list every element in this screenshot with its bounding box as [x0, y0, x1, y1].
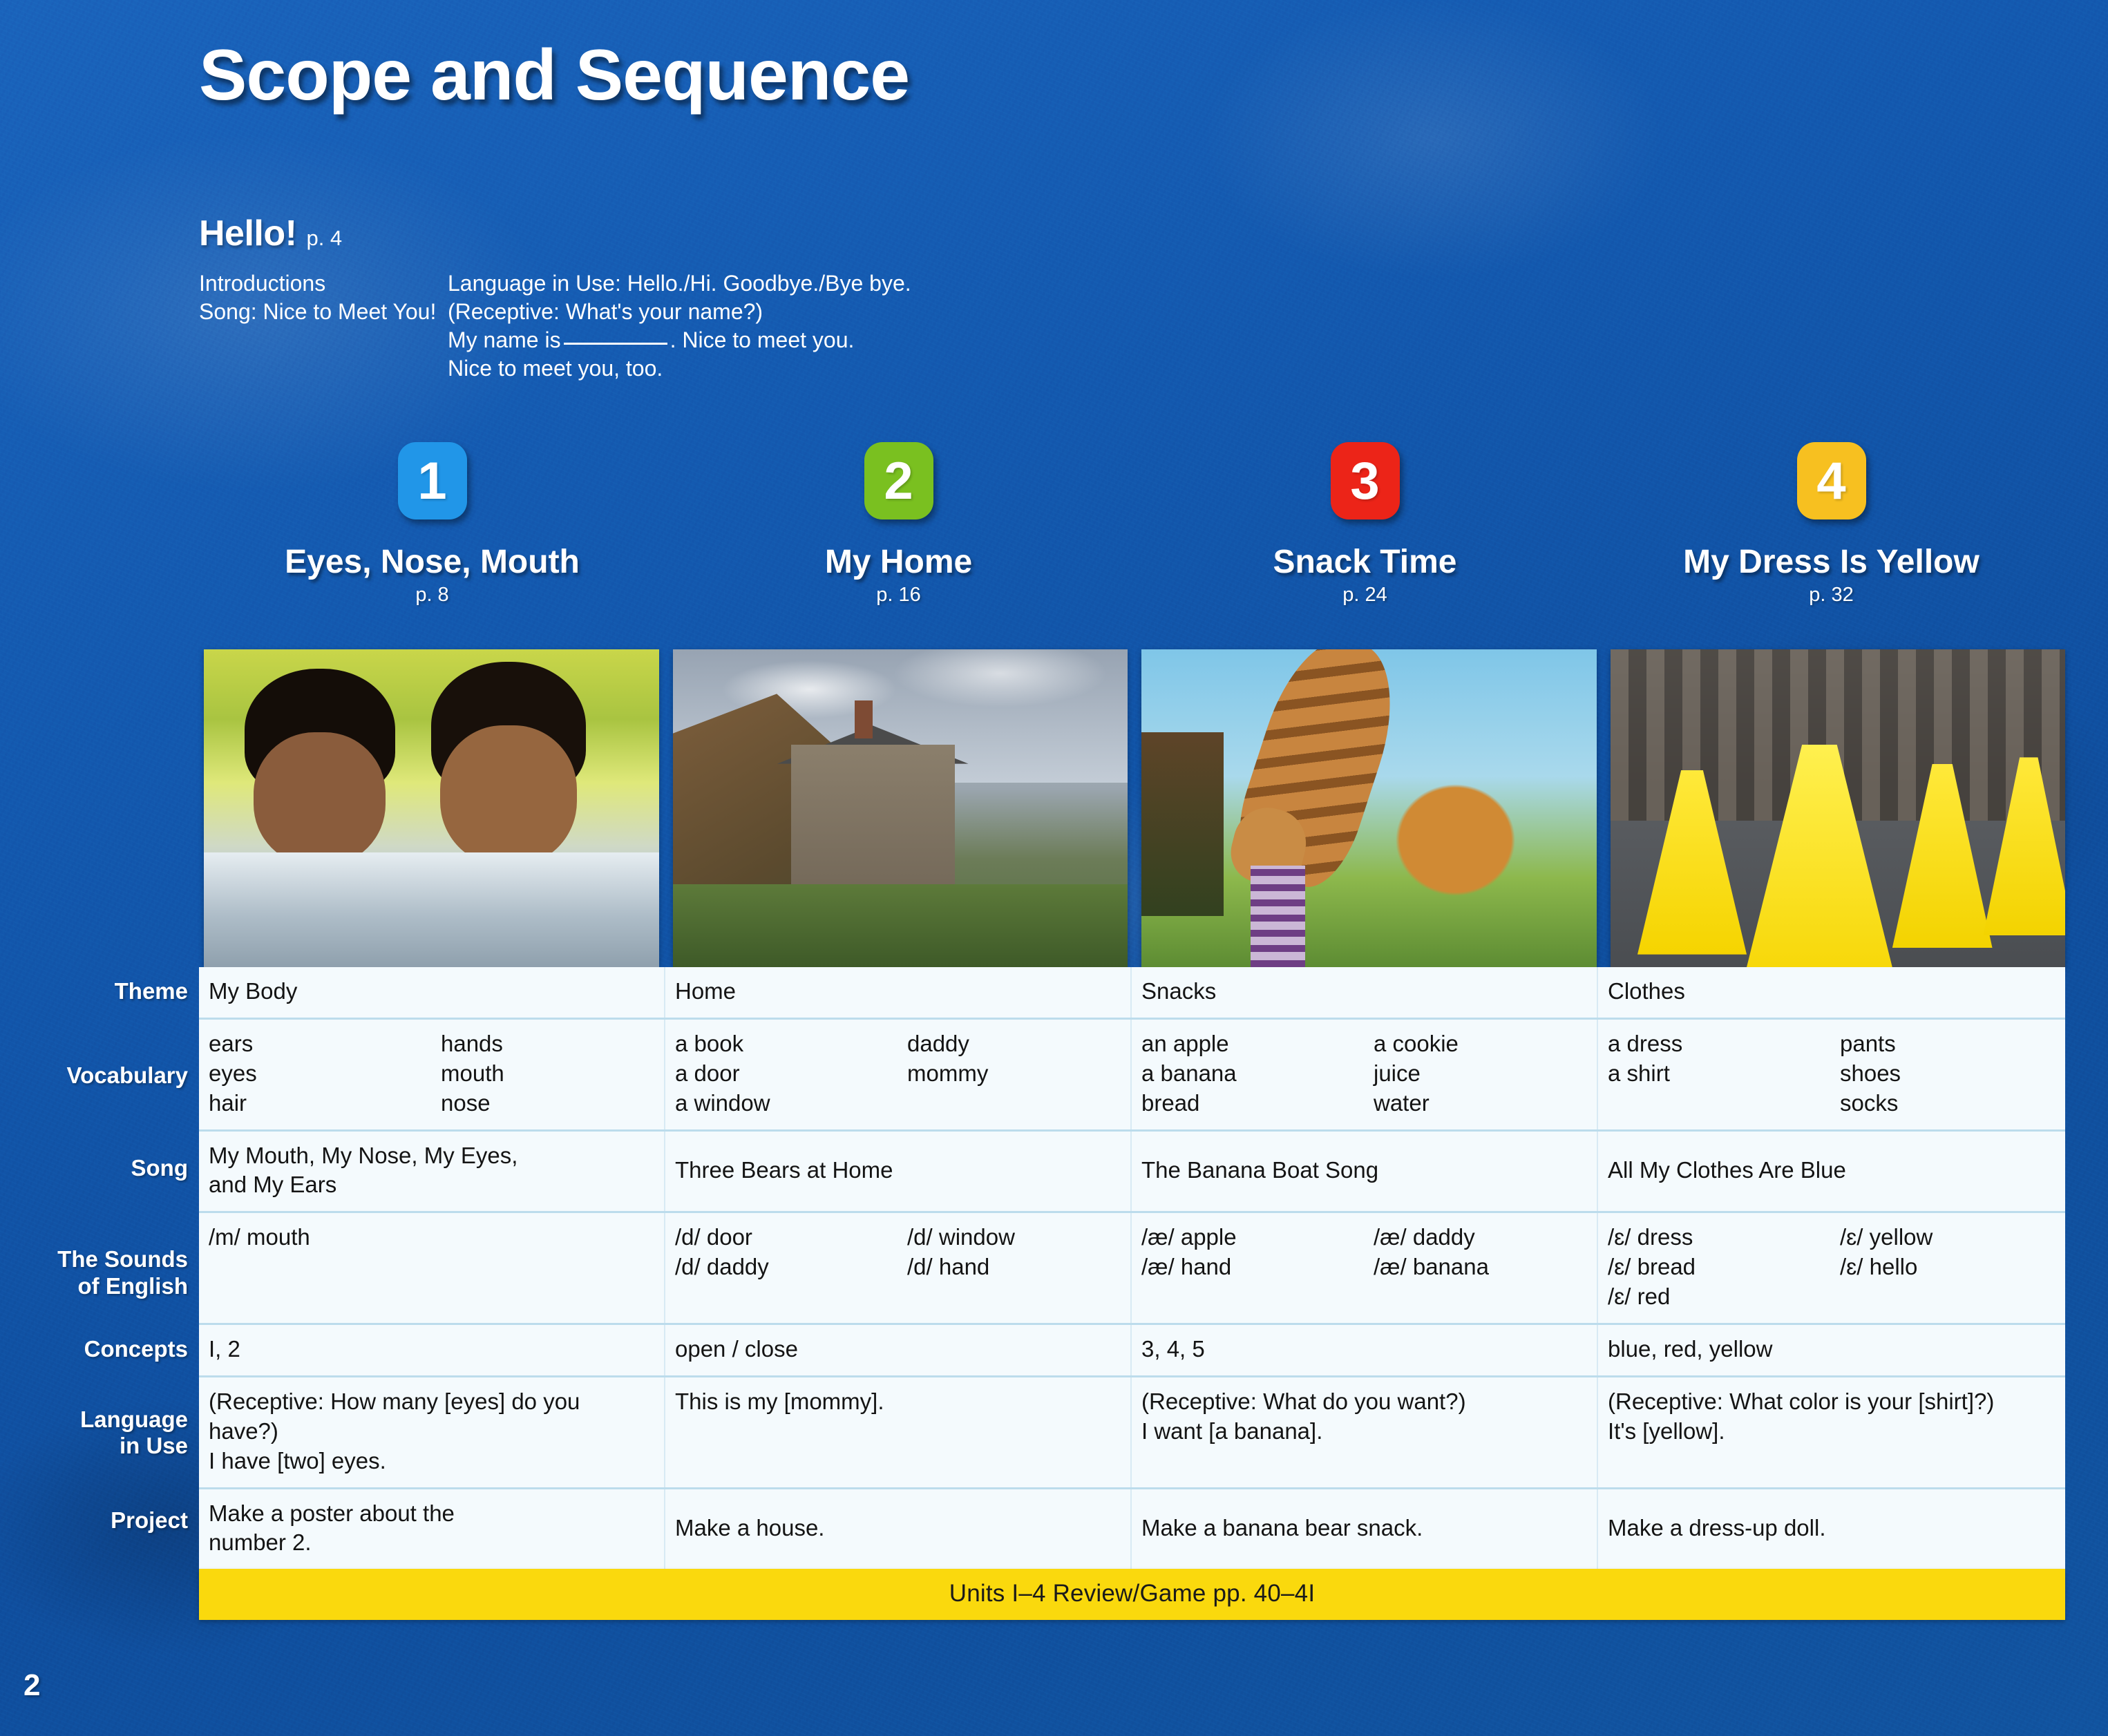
table-cell: Make a dress-up doll. — [1598, 1489, 2064, 1570]
table-cell: My Mouth, My Nose, My Eyes, and My Ears — [199, 1132, 665, 1212]
row-label-concepts: Concepts — [0, 1325, 199, 1377]
cell-text: a cookiejuicewater — [1374, 1029, 1588, 1118]
table-cell: This is my [mommy]. — [665, 1377, 1132, 1487]
table-row-concepts: Concepts I, 2 open / close 3, 4, 5 blue,… — [0, 1325, 2065, 1377]
table-row-vocabulary: Vocabulary earseyeshairhandsmouthnose a … — [0, 1020, 2065, 1132]
hello-my-name-prefix: My name is — [448, 327, 561, 352]
row-cells-theme: My Body Home Snacks Clothes — [199, 967, 2065, 1020]
hello-columns: Introductions Song: Nice to Meet You! La… — [199, 269, 911, 383]
cell-text: pantsshoessocks — [1840, 1029, 2056, 1118]
unit-title-4: My Dress Is Yellow — [1683, 543, 1979, 581]
hello-receptive: (Receptive: What's your name?) — [448, 298, 911, 326]
cell-text — [441, 977, 656, 1007]
table-cell: The Banana Boat Song — [1132, 1132, 1598, 1212]
review-spacer — [0, 1569, 199, 1620]
row-cells-project: Make a poster about the number 2. Make a… — [199, 1489, 2065, 1570]
row-label-project: Project — [0, 1489, 199, 1570]
cell-text: (Receptive: What color is your [shirt]?)… — [1608, 1387, 2056, 1476]
table-cell: /ɛ/ dress/ɛ/ bread/ɛ/ red/ɛ/ yellow/ɛ/ h… — [1598, 1213, 2064, 1323]
cell-text: My Mouth, My Nose, My Eyes, and My Ears — [209, 1141, 533, 1201]
table-row-language-in-use: Language in Use (Receptive: How many [ey… — [0, 1377, 2065, 1489]
page-number: 2 — [23, 1668, 40, 1703]
table-cell: an applea bananabreada cookiejuicewater — [1132, 1020, 1598, 1129]
table-cell: Snacks — [1132, 967, 1598, 1018]
table-cell: Three Bears at Home — [665, 1132, 1132, 1212]
unit-page-ref-3: p. 24 — [1342, 584, 1387, 607]
cell-text: Three Bears at Home — [675, 1156, 1122, 1185]
cell-text: /æ/ daddy/æ/ banana — [1374, 1223, 1588, 1312]
table-cell: /d/ door/d/ daddy/d/ window/d/ hand — [665, 1213, 1132, 1323]
row-cells-song: My Mouth, My Nose, My Eyes, and My Ears … — [199, 1132, 2065, 1214]
table-cell: a booka doora windowdaddymommy — [665, 1020, 1132, 1129]
cell-text: /æ/ apple/æ/ hand — [1141, 1223, 1374, 1312]
table-row-theme: Theme My Body Home Snacks Clothes — [0, 967, 2065, 1020]
cell-text: Make a house. — [675, 1514, 1122, 1543]
hello-section: Hello! p. 4 Introductions Song: Nice to … — [199, 213, 911, 383]
cell-text: Make a poster about the number 2. — [209, 1499, 513, 1558]
unit-page-ref-4: p. 32 — [1809, 584, 1854, 607]
table-cell: (Receptive: How many [eyes] do you have?… — [199, 1377, 665, 1487]
unit-header-3[interactable]: 3 Snack Time p. 24 — [1132, 442, 1598, 607]
table-cell: Make a poster about the number 2. — [199, 1489, 665, 1570]
unit-title-3: Snack Time — [1273, 543, 1457, 581]
cell-text: Make a dress-up doll. — [1608, 1514, 2056, 1543]
cell-text: All My Clothes Are Blue — [1608, 1156, 2056, 1185]
row-cells-vocabulary: earseyeshairhandsmouthnose a booka doora… — [199, 1020, 2065, 1132]
cell-text — [441, 1223, 656, 1312]
hello-my-name-suffix: . Nice to meet you. — [670, 327, 855, 352]
review-banner[interactable]: Units I–4 Review/Game pp. 40–4I — [199, 1569, 2065, 1620]
cell-text: earseyeshair — [209, 1029, 441, 1118]
row-label-sounds-of-english: The Sounds of English — [0, 1213, 199, 1325]
hello-my-name-is: My name is. Nice to meet you. — [448, 326, 911, 354]
cell-text: (Receptive: How many [eyes] do you have?… — [209, 1387, 656, 1476]
cell-text: 3, 4, 5 — [1141, 1335, 1374, 1364]
two-boys-photo — [204, 649, 659, 967]
stone-cottage-photo — [673, 649, 1128, 967]
unit-badge-2: 2 — [864, 442, 933, 519]
table-cell: a dressa shirtpantsshoessocks — [1598, 1020, 2064, 1129]
row-label-line: of English — [0, 1273, 188, 1299]
table-cell: /m/ mouth — [199, 1213, 665, 1323]
unit-page-ref-2: p. 16 — [876, 584, 921, 607]
cell-text: an applea bananabread — [1141, 1029, 1374, 1118]
hello-heading: Hello! p. 4 — [199, 213, 911, 254]
hello-introductions: Introductions — [199, 269, 448, 298]
cell-text: open / close — [675, 1335, 907, 1364]
row-label-vocabulary: Vocabulary — [0, 1020, 199, 1132]
cell-text: Snacks — [1141, 977, 1374, 1007]
hello-right-column: Language in Use: Hello./Hi. Goodbye./Bye… — [448, 269, 911, 383]
cell-text: blue, red, yellow — [1608, 1335, 1840, 1364]
row-label-line: in Use — [0, 1433, 188, 1459]
hello-song: Song: Nice to Meet You! — [199, 298, 448, 326]
cell-text: a booka doora window — [675, 1029, 907, 1118]
table-cell: I, 2 — [199, 1325, 665, 1375]
scope-and-sequence-page: Scope and Sequence Hello! p. 4 Introduct… — [0, 0, 2108, 1736]
table-cell: (Receptive: What color is your [shirt]?)… — [1598, 1377, 2064, 1487]
cell-text: I, 2 — [209, 1335, 441, 1364]
review-banner-row: Units I–4 Review/Game pp. 40–4I — [0, 1569, 2065, 1620]
row-label-theme: Theme — [0, 967, 199, 1020]
hello-language-in-use: Language in Use: Hello./Hi. Goodbye./Bye… — [448, 269, 911, 298]
row-cells-sounds-of-english: /m/ mouth /d/ door/d/ daddy/d/ window/d/… — [199, 1213, 2065, 1325]
row-label-song: Song — [0, 1132, 199, 1214]
table-cell: (Receptive: What do you want?)I want [a … — [1132, 1377, 1598, 1487]
table-cell: earseyeshairhandsmouthnose — [199, 1020, 665, 1129]
cell-text: handsmouthnose — [441, 1029, 656, 1118]
table-row-sounds-of-english: The Sounds of English /m/ mouth /d/ door… — [0, 1213, 2065, 1325]
fill-in-blank — [564, 329, 667, 345]
unit-header-4[interactable]: 4 My Dress Is Yellow p. 32 — [1598, 442, 2064, 607]
unit-badge-1: 1 — [398, 442, 467, 519]
cell-text: /ɛ/ dress/ɛ/ bread/ɛ/ red — [1608, 1223, 1840, 1312]
unit-title-2: My Home — [825, 543, 972, 581]
yellow-dresses-photo — [1611, 649, 2066, 967]
table-cell: Make a house. — [665, 1489, 1132, 1570]
hello-title: Hello! — [199, 213, 296, 254]
page-title: Scope and Sequence — [199, 35, 909, 117]
table-cell: /æ/ apple/æ/ hand/æ/ daddy/æ/ banana — [1132, 1213, 1598, 1323]
unit-header-strip: 1 Eyes, Nose, Mouth p. 8 2 My Home p. 16… — [199, 442, 2064, 607]
table-cell: 3, 4, 5 — [1132, 1325, 1598, 1375]
table-cell: My Body — [199, 967, 665, 1018]
cell-text: daddymommy — [907, 1029, 1122, 1118]
cell-text: My Body — [209, 977, 441, 1007]
giraffe-photo — [1141, 649, 1597, 967]
unit-badge-4: 4 — [1797, 442, 1866, 519]
row-label-line: Language — [0, 1406, 188, 1433]
table-row-song: Song My Mouth, My Nose, My Eyes, and My … — [0, 1132, 2065, 1214]
cell-text: /d/ door/d/ daddy — [675, 1223, 907, 1312]
hello-left-column: Introductions Song: Nice to Meet You! — [199, 269, 448, 383]
unit-header-2[interactable]: 2 My Home p. 16 — [665, 442, 1132, 607]
unit-photo-strip — [204, 649, 2065, 967]
cell-text: /m/ mouth — [209, 1223, 441, 1312]
table-cell: open / close — [665, 1325, 1132, 1375]
table-cell: Make a banana bear snack. — [1132, 1489, 1598, 1570]
cell-text: /ɛ/ yellow/ɛ/ hello — [1840, 1223, 2056, 1312]
cell-text: a dressa shirt — [1608, 1029, 1840, 1118]
table-cell: blue, red, yellow — [1598, 1325, 2064, 1375]
table-cell: Clothes — [1598, 967, 2064, 1018]
cell-text: Clothes — [1608, 977, 1840, 1007]
cell-text — [1374, 977, 1588, 1007]
cell-text — [1840, 977, 2056, 1007]
row-cells-concepts: I, 2 open / close 3, 4, 5 blue, red, yel… — [199, 1325, 2065, 1377]
hello-nice-to-meet-you-too: Nice to meet you, too. — [448, 354, 911, 383]
scope-sequence-table: Theme My Body Home Snacks Clothes Vocabu… — [0, 967, 2065, 1620]
cell-text: (Receptive: What do you want?)I want [a … — [1141, 1387, 1588, 1476]
row-cells-language-in-use: (Receptive: How many [eyes] do you have?… — [199, 1377, 2065, 1489]
cell-text: /d/ window/d/ hand — [907, 1223, 1122, 1312]
hello-page-ref: p. 4 — [306, 226, 342, 251]
table-row-project: Project Make a poster about the number 2… — [0, 1489, 2065, 1570]
unit-badge-3: 3 — [1331, 442, 1400, 519]
cell-text: The Banana Boat Song — [1141, 1156, 1588, 1185]
unit-title-1: Eyes, Nose, Mouth — [285, 543, 580, 581]
cell-text — [907, 977, 1122, 1007]
table-cell: All My Clothes Are Blue — [1598, 1132, 2064, 1212]
cell-text: Home — [675, 977, 907, 1007]
cell-text: Make a banana bear snack. — [1141, 1514, 1588, 1543]
row-label-line: The Sounds — [0, 1246, 188, 1272]
table-cell: Home — [665, 967, 1132, 1018]
unit-header-1[interactable]: 1 Eyes, Nose, Mouth p. 8 — [199, 442, 665, 607]
row-label-language-in-use: Language in Use — [0, 1377, 199, 1489]
cell-text: This is my [mommy]. — [675, 1387, 1122, 1476]
unit-page-ref-1: p. 8 — [415, 584, 448, 607]
